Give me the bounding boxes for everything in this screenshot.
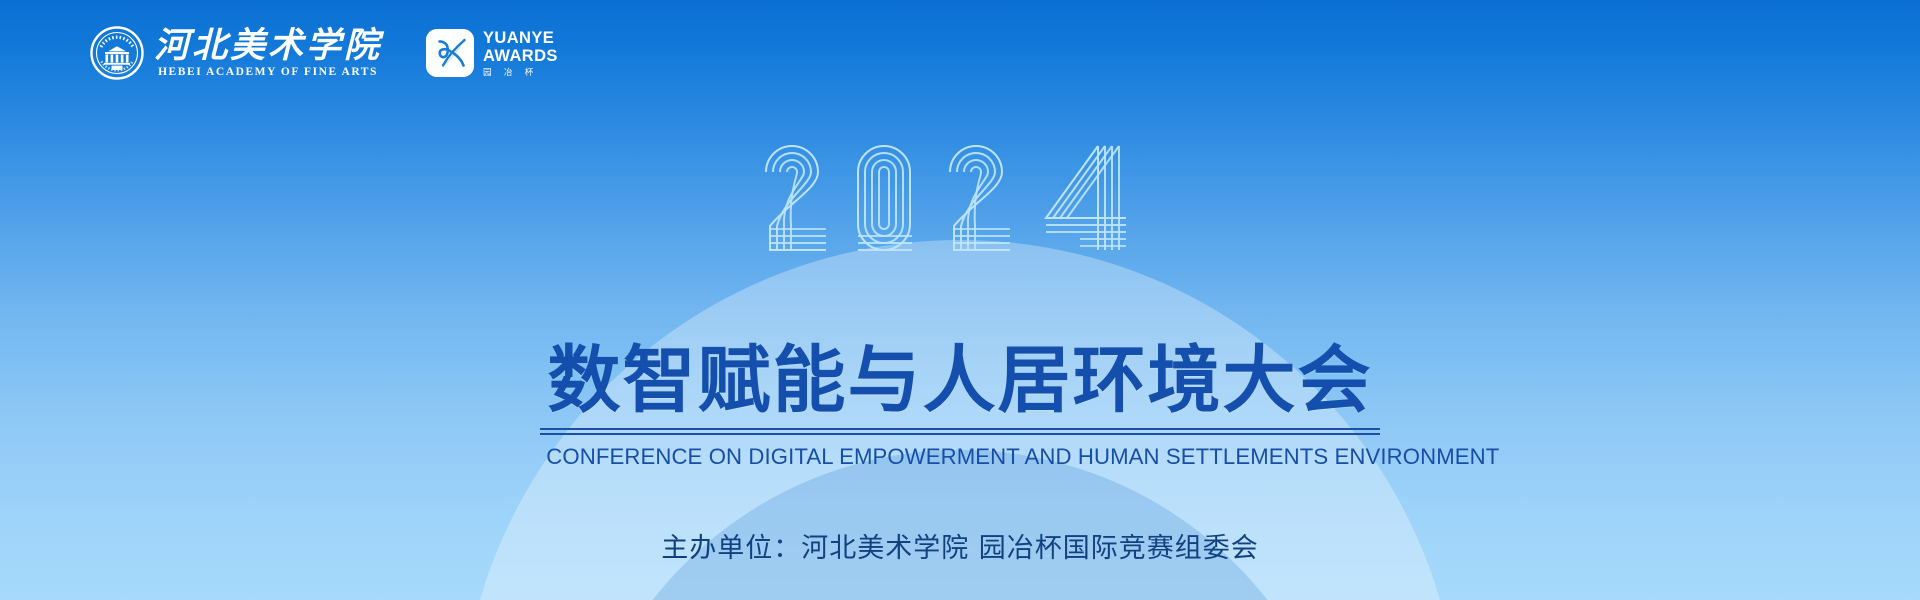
hebei-academy-wordmark: 河北美术学院 HEBEI ACADEMY OF FINE ARTS bbox=[154, 27, 382, 80]
page-subtitle-en: CONFERENCE ON DIGITAL EMPOWERMENT AND HU… bbox=[546, 444, 1373, 470]
headline-block: 数智赋能与人居环境大会 CONFERENCE ON DIGITAL EMPOWE… bbox=[540, 340, 1380, 470]
yuanye-line-3: 园 冶 杯 bbox=[483, 68, 558, 77]
divider-rule-bottom bbox=[540, 433, 1380, 435]
logo-hebei-academy[interactable]: 河北美术学院 HEBEI ACADEMY OF FINE ARTS bbox=[90, 26, 382, 80]
year-2024-graphic bbox=[760, 138, 1160, 283]
logo-bar: 河北美术学院 HEBEI ACADEMY OF FINE ARTS YUANYE… bbox=[90, 26, 558, 80]
yuanye-line-2: AWARDS bbox=[483, 48, 558, 65]
yuanye-leaf-mark-icon bbox=[426, 29, 474, 77]
circular-seal-emblem-icon bbox=[90, 26, 144, 80]
yuanye-wordmark: YUANYE AWARDS 园 冶 杯 bbox=[483, 30, 558, 77]
conference-banner: 河北美术学院 HEBEI ACADEMY OF FINE ARTS YUANYE… bbox=[0, 0, 1920, 600]
hebei-academy-name-en: HEBEI ACADEMY OF FINE ARTS bbox=[154, 65, 382, 79]
background-circle-inner bbox=[570, 450, 1350, 600]
organizer-line: 主办单位：河北美术学院 园冶杯国际竞赛组委会 bbox=[661, 532, 1259, 566]
hebei-academy-name-cn: 河北美术学院 bbox=[154, 27, 382, 65]
logo-yuanye-awards[interactable]: YUANYE AWARDS 园 冶 杯 bbox=[426, 29, 558, 77]
title-divider-rules bbox=[540, 428, 1380, 435]
divider-rule-top bbox=[540, 428, 1380, 430]
yuanye-line-1: YUANYE bbox=[483, 30, 558, 47]
page-title-cn: 数智赋能与人居环境大会 bbox=[540, 340, 1380, 422]
